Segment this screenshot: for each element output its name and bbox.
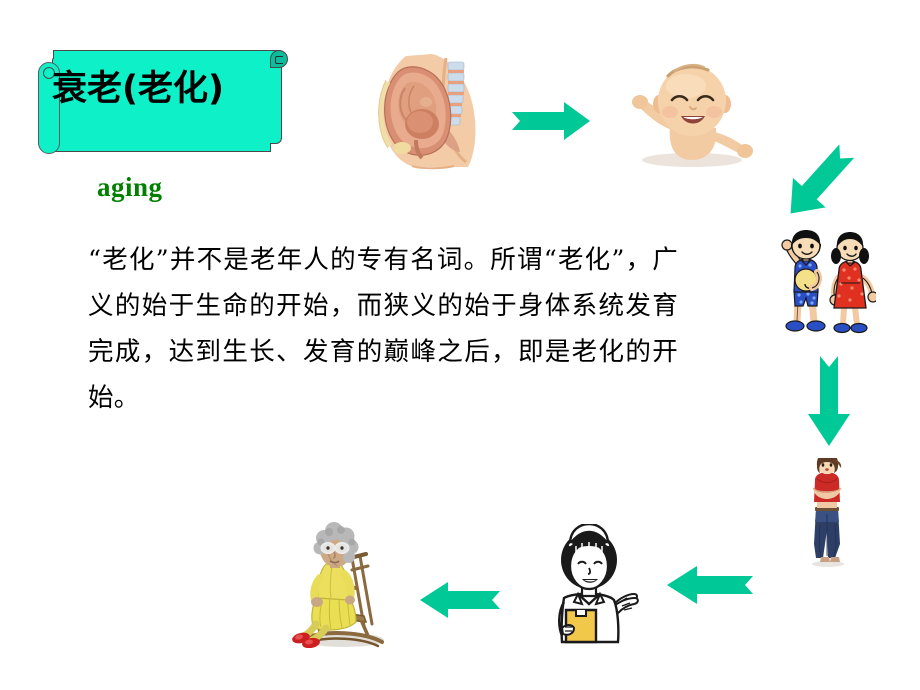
subtitle-aging: aging	[97, 172, 163, 203]
arrow-nurse-to-elderly	[418, 580, 502, 620]
scroll-curl-right	[270, 50, 288, 68]
banner-top-edge	[53, 50, 281, 59]
arrow-baby-to-children	[778, 140, 858, 226]
banner-bottom-edge	[53, 143, 271, 152]
page-title: 衰老(老化)	[52, 72, 282, 107]
slide-canvas: 衰老(老化) aging “老化”并不是老年人的专有名词。所谓“老化”，广义的始…	[0, 0, 920, 690]
arrow-woman-to-nurse	[665, 564, 755, 606]
arrow-fetus-to-baby	[512, 100, 592, 142]
elderly-woman-rocking-chair-clipart	[286, 522, 396, 648]
arrow-children-to-woman	[798, 356, 860, 448]
smiling-baby-photo	[628, 58, 754, 168]
nurse-with-clipboard-clipart	[534, 524, 644, 646]
fetus-in-womb-illustration	[372, 48, 490, 170]
young-woman-clipart	[790, 458, 864, 568]
body-paragraph: “老化”并不是老年人的专有名词。所谓“老化”，广义的始于生命的开始，而狭义的始于…	[88, 237, 678, 421]
two-children-clipart	[772, 228, 876, 336]
